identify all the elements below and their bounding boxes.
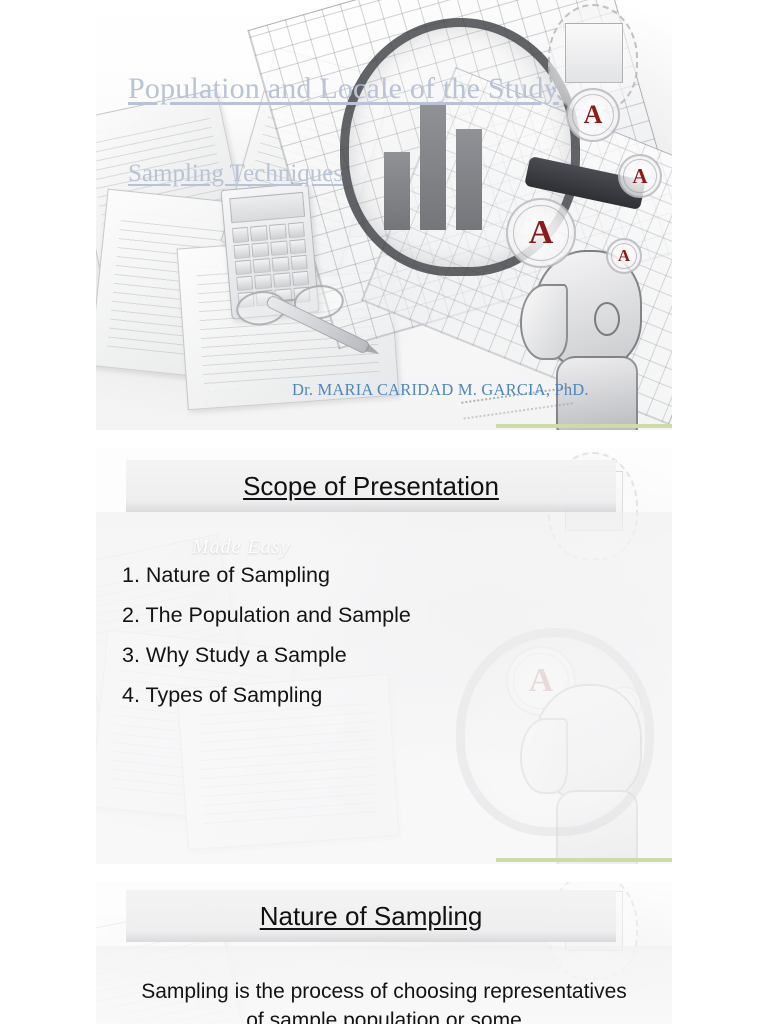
slide-1-title: Population and Locale of the Study [128,72,668,106]
slide-scope-of-presentation[interactable]: A A Scope of Presentation Made Easy 1. N… [96,448,672,864]
list-item: 1. Nature of Sampling [122,556,652,596]
document-viewport[interactable]: A A A A Population and Locale of the Stu… [0,0,768,1024]
list-item: 2. The Population and Sample [122,596,652,636]
calculator-key [273,273,291,289]
calculator-key [289,239,307,255]
scope-list: 1. Nature of Sampling 2. The Population … [122,556,652,716]
medallion-a-icon: A [506,198,576,268]
slide-title[interactable]: A A A A Population and Locale of the Stu… [96,0,672,430]
slide-nature-of-sampling[interactable]: Nature of Sampling Sampling is the proce… [96,882,672,1024]
slide-1-artwork: A A A A [96,0,672,430]
slide-3-title-banner: Nature of Sampling [126,890,616,942]
calculator-key [291,271,309,287]
slide-1-subtitle: Sampling Techniques [128,160,343,188]
medallion-a-icon: A [606,238,642,274]
calculator-key [252,242,270,258]
slide-accent-bar [496,858,672,862]
slide-accent-bar [496,424,672,428]
calculator-key [232,227,250,243]
head-ear [594,302,620,336]
calculator-key [233,243,251,259]
slide-2-title: Scope of Presentation [243,471,499,502]
calculator-key [253,258,271,274]
calculator-key [290,255,308,271]
calculator-key [250,226,268,242]
head-face-profile [520,284,568,360]
calculator-key [269,224,287,240]
slide-1-author: Dr. MARIA CARIDAD M. GARCIA, PhD. [292,380,589,400]
list-item: 4. Types of Sampling [122,676,652,716]
calculator-key [236,276,254,292]
calculator-key [272,256,290,272]
list-item: 3. Why Study a Sample [122,636,652,676]
slide-3-body-text: Sampling is the process of choosing repr… [136,978,632,1024]
calculator-key [287,222,305,238]
calculator-key [255,274,273,290]
slide-3-title: Nature of Sampling [260,901,483,932]
calculator-key [235,260,253,276]
calculator-key [270,240,288,256]
medallion-a-icon: A [618,154,662,198]
calculator-screen [229,192,305,223]
slide-2-title-banner: Scope of Presentation [126,460,616,512]
